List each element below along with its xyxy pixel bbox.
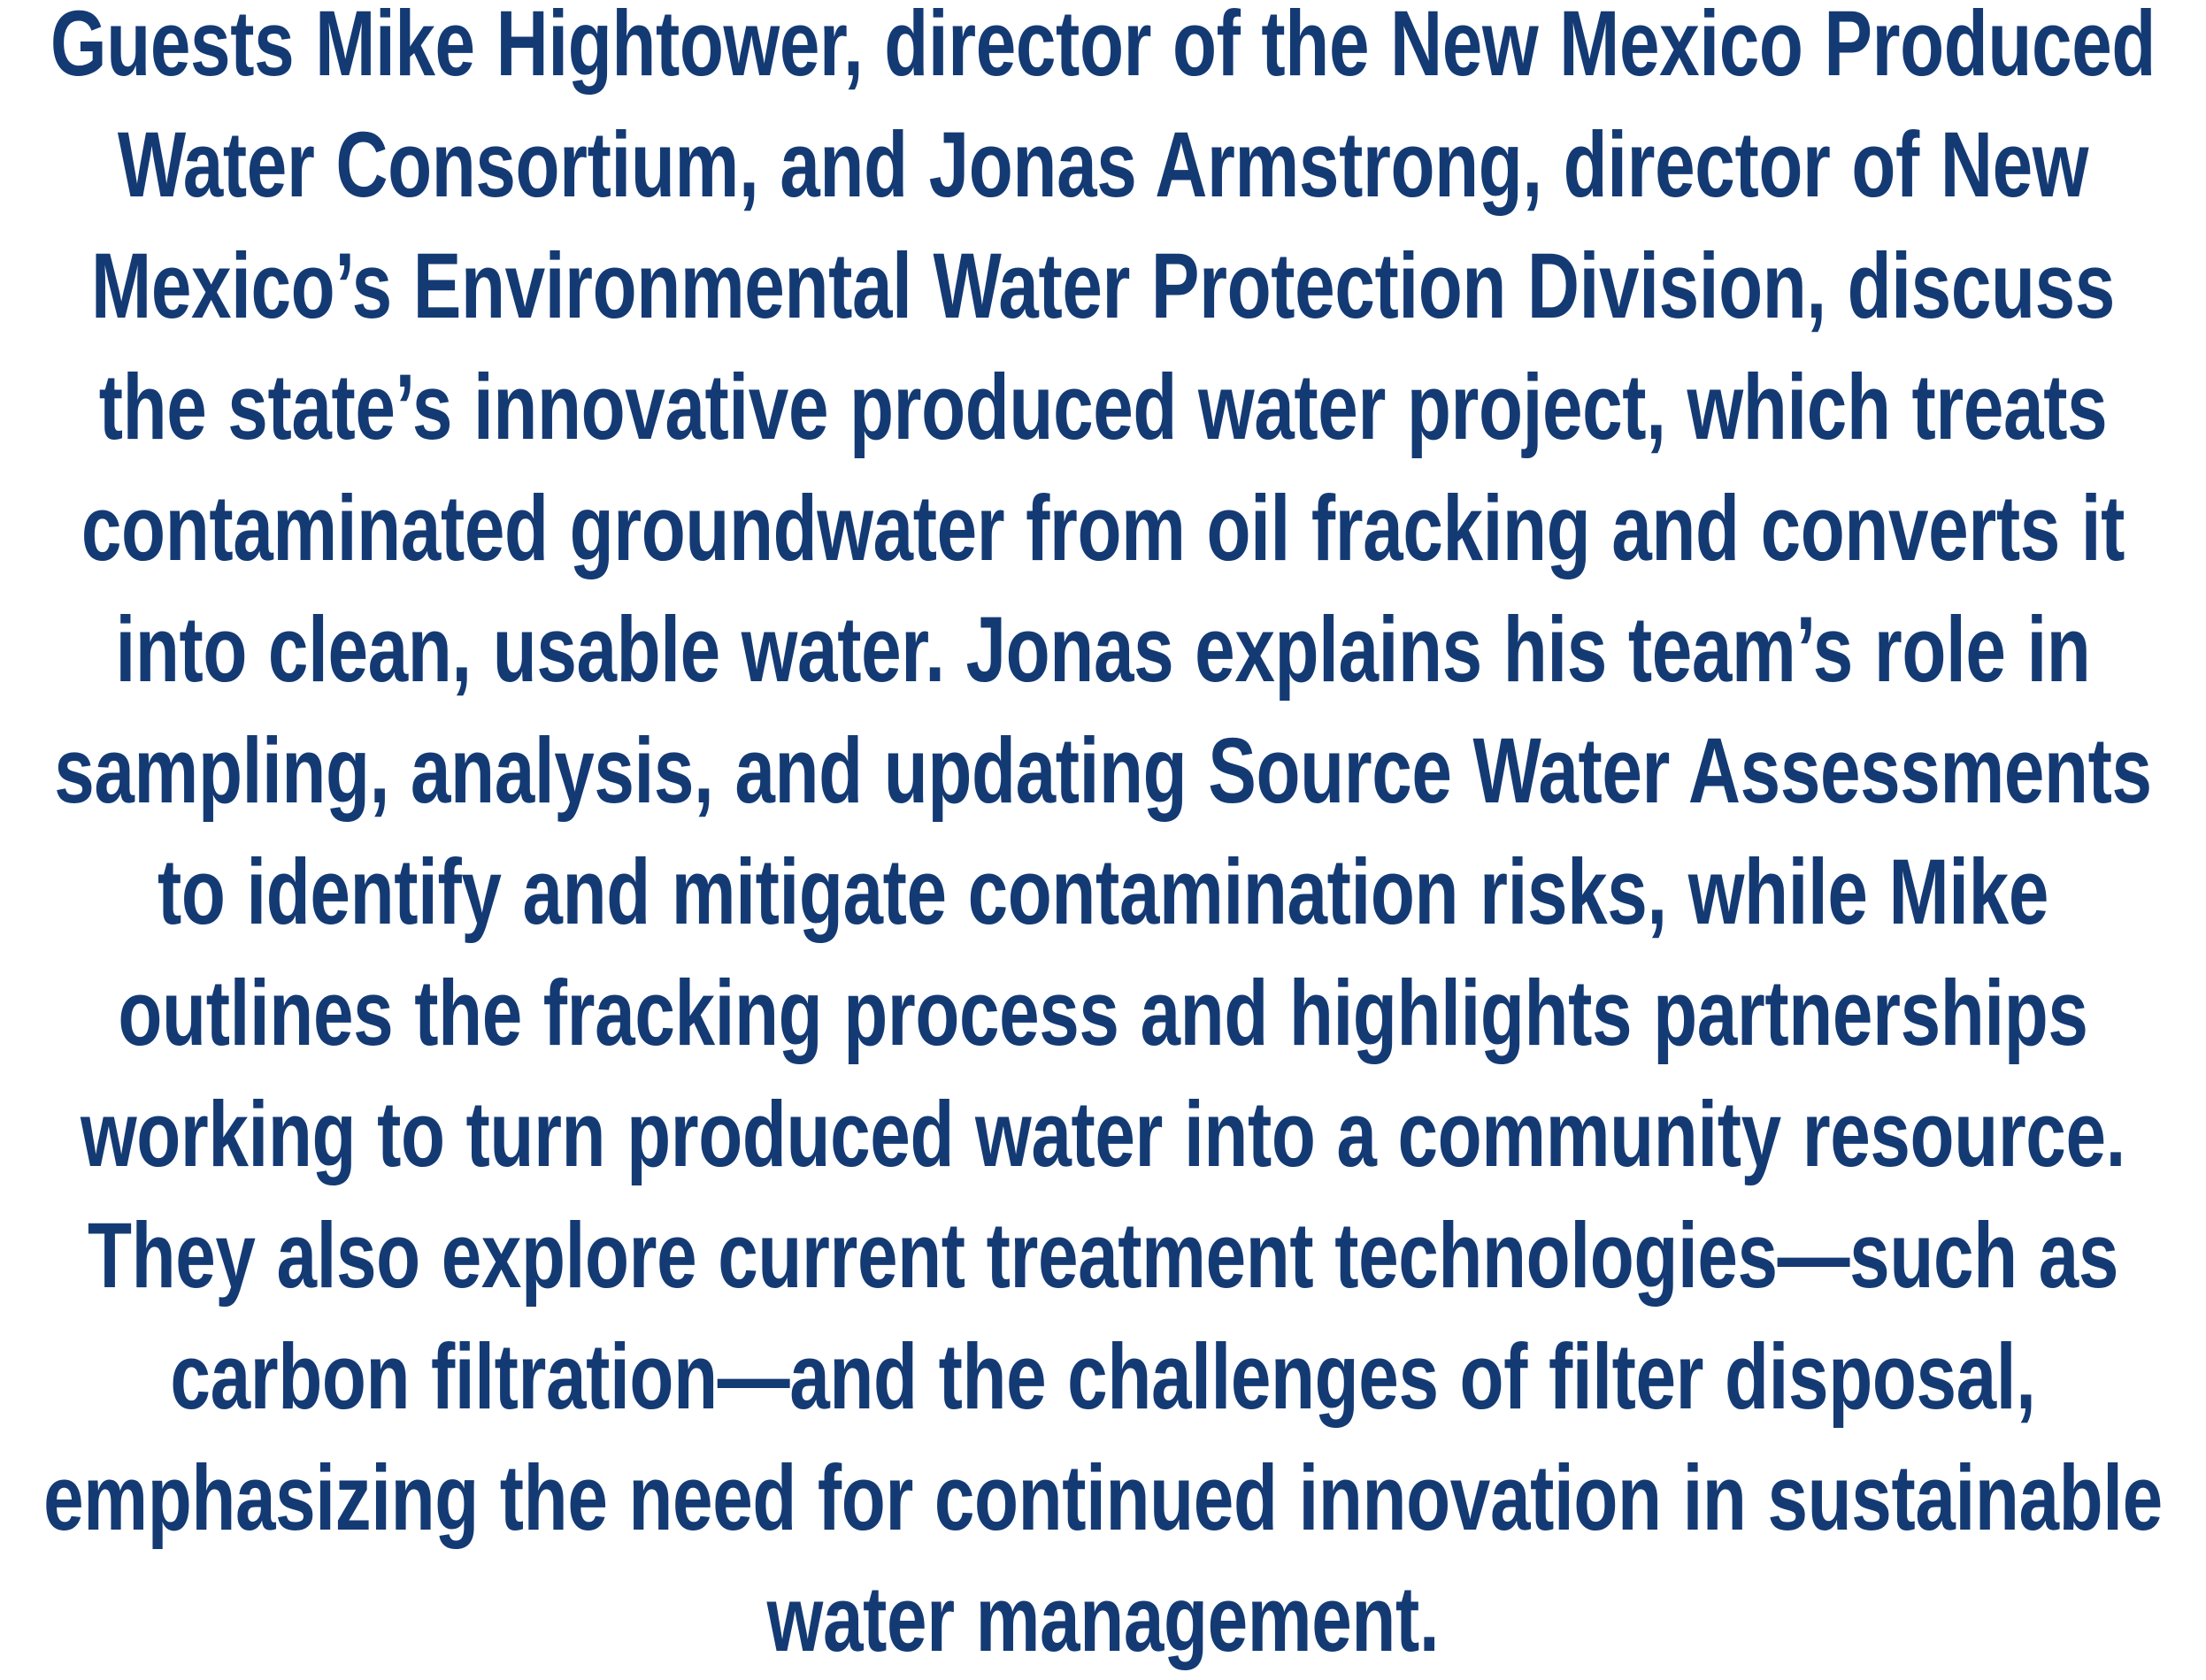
description-page: Guests Mike Hightower, director of the N…: [0, 0, 2206, 1662]
description-block: Guests Mike Hightower, director of the N…: [42, 0, 2164, 1680]
episode-description-text: Guests Mike Hightower, director of the N…: [42, 0, 2164, 1680]
